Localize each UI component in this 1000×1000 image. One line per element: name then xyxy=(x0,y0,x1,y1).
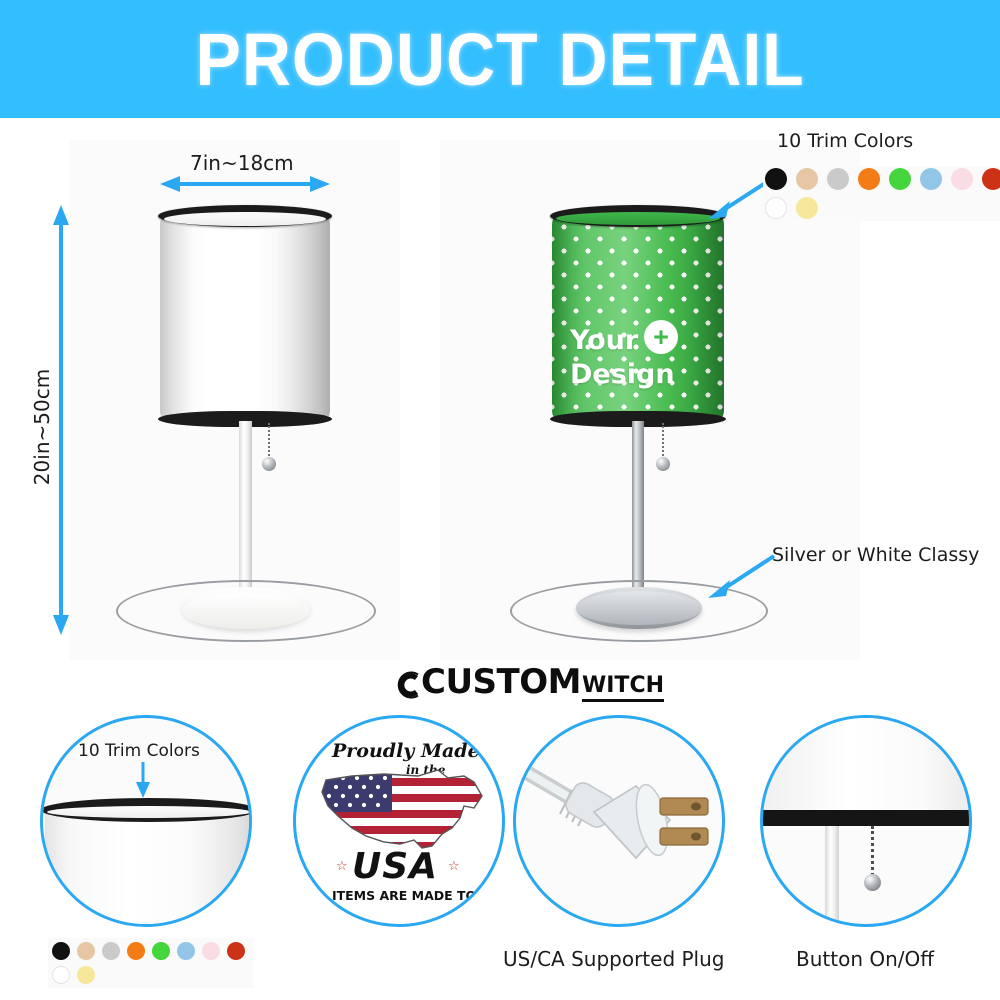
width-dimension-label: 7in~18cm xyxy=(190,151,294,175)
pull-chain-green[interactable] xyxy=(662,423,664,459)
swatch-pink[interactable] xyxy=(951,168,973,190)
trim-circle-inner-lip xyxy=(47,806,251,818)
swatch-yellow[interactable] xyxy=(796,197,818,219)
trim-circle-shade-body xyxy=(45,812,252,927)
shade-surface xyxy=(160,215,330,420)
swatch-bottom-green[interactable] xyxy=(152,942,170,960)
swatch-black[interactable] xyxy=(765,168,787,190)
lamp-white-blank xyxy=(120,195,400,645)
plug-circle xyxy=(513,715,725,927)
trim-color-swatches-top xyxy=(763,166,1000,221)
lamp-shade-blank xyxy=(160,215,330,420)
pull-chain-ball-green[interactable] xyxy=(656,457,670,471)
trim-colors-card-label: 10 Trim Colors xyxy=(78,741,200,761)
lamp-shade-custom: Your + Design xyxy=(552,215,724,420)
design-plus-icon: + xyxy=(644,320,678,354)
switch-card-label: Button On/Off xyxy=(796,947,934,971)
logo-sub-text: WITCH xyxy=(582,673,664,702)
usa-badge-line4: ALL ITEMS ARE MADE TO ORDER! xyxy=(302,888,505,903)
switch-circle-chain-ball[interactable] xyxy=(864,874,881,891)
pull-chain-ball-white[interactable] xyxy=(262,457,276,471)
page-header-banner: PRODUCT DETAIL xyxy=(0,0,1000,118)
usa-star-left-icon: ☆ xyxy=(336,858,348,874)
shade-inner-lip xyxy=(164,212,326,226)
swatch-bottom-black[interactable] xyxy=(52,942,70,960)
power-cord-loop-white xyxy=(116,580,376,642)
usa-badge-line1: Proudly Made xyxy=(332,740,480,762)
power-plug-icon xyxy=(524,754,720,894)
height-dimension-arrow xyxy=(52,205,70,635)
swatch-bottom-white[interactable] xyxy=(52,966,70,984)
switch-circle xyxy=(760,715,972,927)
swatch-bottom-brick-red[interactable] xyxy=(227,942,245,960)
swatch-bottom-gray[interactable] xyxy=(102,942,120,960)
callout-base-finish-label: Silver or White Classy xyxy=(772,544,979,566)
swatch-bottom-pink[interactable] xyxy=(202,942,220,960)
design-text-line2: Design xyxy=(570,361,675,388)
swatch-brick-red[interactable] xyxy=(982,168,1000,190)
swatch-gray[interactable] xyxy=(827,168,849,190)
product-detail-page: PRODUCT DETAIL 7in~18cm 20in~50cm xyxy=(0,0,1000,1000)
swatch-bottom-light-blue[interactable] xyxy=(177,942,195,960)
usa-star-right-icon: ☆ xyxy=(448,858,460,874)
swatch-bottom-tan[interactable] xyxy=(77,942,95,960)
width-dimension-arrow xyxy=(160,175,330,193)
pull-chain-white[interactable] xyxy=(268,423,270,459)
plug-card-label: US/CA Supported Plug xyxy=(503,947,724,971)
shade-inner-lip-green xyxy=(556,212,720,225)
swatch-bottom-orange[interactable] xyxy=(127,942,145,960)
page-title: PRODUCT DETAIL xyxy=(195,17,804,102)
swatch-orange[interactable] xyxy=(858,168,880,190)
logo-main-text: CUSTOM xyxy=(421,662,581,702)
swatch-bottom-yellow[interactable] xyxy=(77,966,95,984)
made-in-usa-circle: Proudly Made in the xyxy=(293,715,505,927)
swatch-tan[interactable] xyxy=(796,168,818,190)
switch-circle-shade xyxy=(763,718,972,810)
logo-c-icon xyxy=(392,668,426,702)
brand-logo: CUSTOM WITCH xyxy=(392,662,664,702)
callout-trim-colors-label: 10 Trim Colors xyxy=(777,130,913,152)
swatch-light-blue[interactable] xyxy=(920,168,942,190)
shade-surface-green: Your + Design xyxy=(552,215,724,420)
trim-colors-card-arrow xyxy=(134,762,152,798)
trim-color-swatches-bottom xyxy=(48,938,253,988)
swatch-green[interactable] xyxy=(889,168,911,190)
callout-base-finish-arrow xyxy=(700,550,780,602)
swatch-white[interactable] xyxy=(765,197,787,219)
design-text-line1: Your xyxy=(570,327,638,354)
switch-circle-pole xyxy=(825,826,839,927)
switch-circle-chain[interactable] xyxy=(871,826,874,876)
lamp-pole-white xyxy=(239,421,252,601)
height-dimension-label: 20in~50cm xyxy=(30,367,54,487)
shade-gloss xyxy=(160,215,330,420)
usa-badge-line3: USA xyxy=(352,846,438,887)
switch-circle-trim xyxy=(760,810,972,826)
lamp-pole-silver xyxy=(632,421,644,601)
